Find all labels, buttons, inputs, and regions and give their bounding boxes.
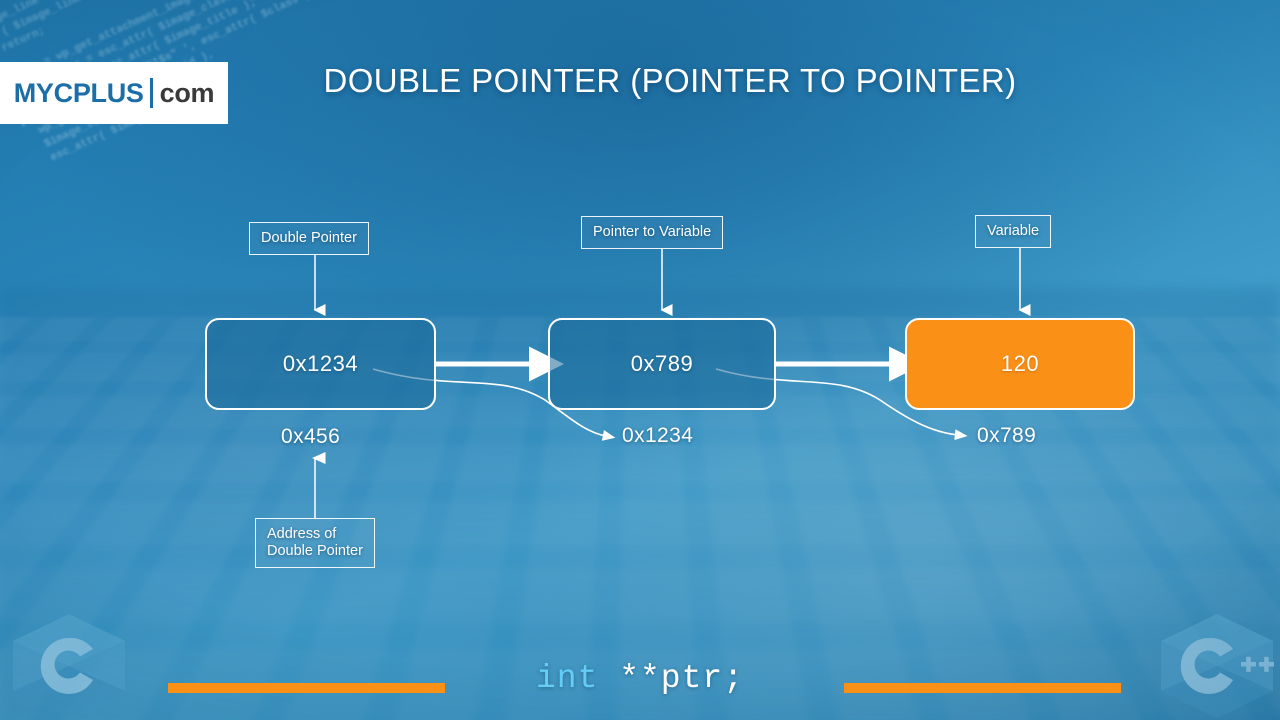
label-address-of-double-pointer: Address of Double Pointer: [255, 518, 375, 568]
memory-box-pointer: 0x789: [548, 318, 776, 410]
address-caption-double-pointer: 0x456: [281, 425, 340, 449]
code-rest: **ptr;: [598, 660, 744, 697]
memory-box-double-pointer: 0x1234: [205, 318, 436, 410]
page-title: DOUBLE POINTER (POINTER TO POINTER): [0, 62, 1280, 100]
decorative-rule-left: [168, 683, 445, 693]
c-language-logo: [8, 612, 130, 720]
label-pointer-to-variable: Pointer to Variable: [581, 216, 723, 249]
cpp-language-logo: [1156, 612, 1278, 720]
address-caption-variable: 0x789: [977, 424, 1036, 448]
label-double-pointer: Double Pointer: [249, 222, 369, 255]
address-caption-pointer: 0x1234: [622, 424, 693, 448]
slide-canvas: image_link = wp_get_attachment_url( $ima…: [0, 0, 1280, 720]
code-keyword: int: [536, 660, 598, 697]
decorative-rule-right: [844, 683, 1121, 693]
label-variable: Variable: [975, 215, 1051, 248]
memory-box-variable: 120: [905, 318, 1135, 410]
